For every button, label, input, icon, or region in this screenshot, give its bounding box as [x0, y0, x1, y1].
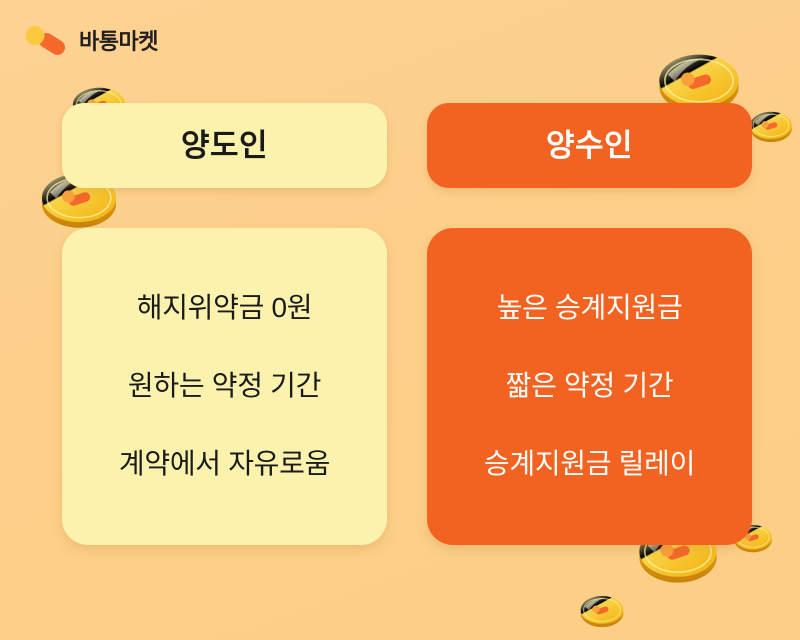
benefit-line: 승계지원금 릴레이 — [484, 449, 695, 480]
card-header-transferee[interactable]: 양수인 — [427, 103, 752, 188]
card-header-label: 양도인 — [181, 130, 268, 161]
baton-relay-icon — [24, 25, 68, 59]
column-transferor: 양도인 해지위약금 0원 원하는 약정 기간 계약에서 자유로움 — [62, 103, 387, 545]
brand-name: 바통마켓 — [79, 31, 158, 53]
benefit-line: 짧은 약정 기간 — [506, 371, 674, 402]
brand-logo[interactable]: 바통마켓 — [24, 22, 158, 62]
coin-icon — [578, 588, 626, 629]
benefit-line: 원하는 약정 기간 — [128, 371, 321, 402]
coin-icon — [748, 104, 794, 144]
benefit-line: 해지위약금 0원 — [137, 293, 313, 324]
benefit-line: 계약에서 자유로움 — [119, 449, 330, 480]
column-transferee: 양수인 높은 승계지원금 짧은 약정 기간 승계지원금 릴레이 — [427, 103, 752, 545]
card-body-transferee: 높은 승계지원금 짧은 약정 기간 승계지원금 릴레이 — [427, 228, 752, 545]
benefit-line: 높은 승계지원금 — [497, 293, 683, 324]
card-header-transferor[interactable]: 양도인 — [62, 103, 387, 188]
card-header-label: 양수인 — [546, 130, 633, 161]
card-body-transferor: 해지위약금 0원 원하는 약정 기간 계약에서 자유로움 — [62, 228, 387, 545]
